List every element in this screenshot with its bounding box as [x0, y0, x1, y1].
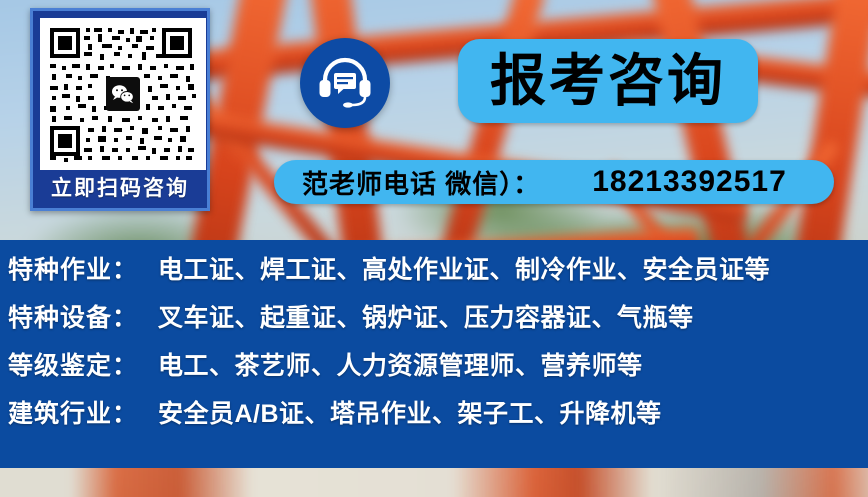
info-row-value: 电工证、焊工证、高处作业证、制冷作业、安全员证等	[158, 250, 770, 286]
footer-photo-strip	[0, 468, 868, 497]
headset-glyph	[316, 55, 374, 111]
info-row-value: 电工、茶艺师、人力资源管理师、营养师等	[158, 346, 643, 382]
wechat-logo-icon	[106, 77, 140, 111]
info-row-value: 叉车证、起重证、锅炉证、压力容器证、气瓶等	[158, 298, 694, 334]
qr-code-card[interactable]: 立即扫码咨询	[30, 8, 210, 211]
consultation-title-text: 报考咨询	[490, 53, 726, 109]
promo-poster: 立即扫码咨询 报考咨询 范老师电话 微信）： 18213392517	[0, 0, 868, 497]
certification-info-panel: 特种作业： 电工证、焊工证、高处作业证、制冷作业、安全员证等 特种设备： 叉车证…	[0, 240, 868, 468]
info-row-construction-industry: 建筑行业： 安全员A/B证、塔吊作业、架子工、升降机等	[0, 394, 868, 442]
info-row-special-equipment: 特种设备： 叉车证、起重证、锅炉证、压力容器证、气瓶等	[0, 298, 868, 346]
phone-number[interactable]: 18213392517	[592, 165, 787, 199]
consultation-title-badge[interactable]: 报考咨询	[458, 39, 758, 123]
headset-support-icon	[300, 38, 390, 128]
info-row-label: 建筑行业：	[8, 394, 158, 430]
info-row-value: 安全员A/B证、塔吊作业、架子工、升降机等	[158, 394, 662, 430]
wechat-bubbles-icon	[111, 84, 135, 104]
info-row-label: 特种作业：	[8, 250, 158, 286]
phone-label: 范老师电话 微信）：	[302, 164, 540, 201]
info-row-grade-assessment: 等级鉴定： 电工、茶艺师、人力资源管理师、营养师等	[0, 346, 868, 394]
info-row-label: 特种设备：	[8, 298, 158, 334]
info-row-label: 等级鉴定：	[8, 346, 158, 382]
qr-code-frame	[40, 18, 206, 170]
footer-photo-content	[0, 468, 868, 497]
qr-card-label: 立即扫码咨询	[40, 170, 200, 208]
info-row-special-operations: 特种作业： 电工证、焊工证、高处作业证、制冷作业、安全员证等	[0, 250, 868, 298]
wechat-qr-code[interactable]	[46, 24, 200, 164]
phone-contact-badge[interactable]: 范老师电话 微信）： 18213392517	[274, 160, 834, 204]
